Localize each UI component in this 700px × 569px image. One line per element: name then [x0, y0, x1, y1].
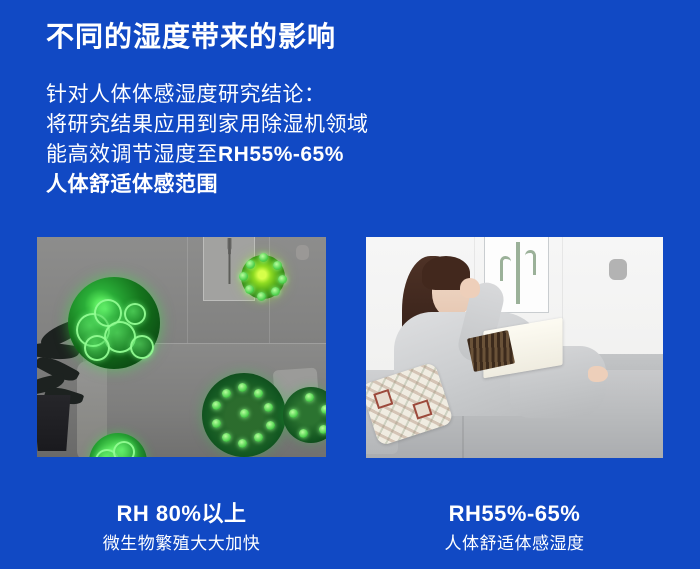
body-copy: 针对人体体感湿度研究结论： 将研究结果应用到家用除湿机领域 能高效调节湿度至RH…	[46, 80, 466, 200]
caption-title: RH55%-65%	[366, 500, 663, 528]
panel-image-comfort-humidity	[366, 237, 663, 458]
body-copy-line-2: 将研究结果应用到家用除湿机领域	[46, 110, 466, 140]
body-copy-line-1: 针对人体体感湿度研究结论：	[46, 80, 466, 110]
body-copy-line-3-prefix: 能高效调节湿度至	[46, 143, 218, 166]
wall-fixture-icon	[296, 245, 309, 260]
caption-title: RH 80%以上	[37, 500, 326, 528]
hand	[460, 278, 480, 298]
body-copy-line-4: 人体舒适体感范围	[46, 170, 466, 200]
body-copy-line-3: 能高效调节湿度至RH55%-65%	[46, 140, 466, 170]
page-title: 不同的湿度带来的影响	[46, 18, 336, 56]
caption-subtitle: 人体舒适体感湿度	[366, 533, 663, 555]
scene-bright-living-room	[366, 237, 663, 458]
microbe-virus-large	[202, 373, 286, 457]
microbe-cluster-large	[68, 277, 160, 369]
caption-comfort-humidity: RH55%-65% 人体舒适体感湿度	[366, 500, 663, 555]
open-book-icon	[484, 324, 562, 372]
wall-fixture-icon	[609, 259, 627, 280]
foot	[588, 366, 608, 382]
panel-image-high-humidity	[37, 237, 326, 457]
microbe-virus-small	[241, 255, 285, 299]
scene-dim-living-room	[37, 237, 326, 457]
caption-high-humidity: RH 80%以上 微生物繁殖大大加快	[37, 500, 326, 555]
caption-subtitle: 微生物繁殖大大加快	[37, 533, 326, 555]
poster-root: 不同的湿度带来的影响 针对人体体感湿度研究结论： 将研究结果应用到家用除湿机领域…	[0, 0, 700, 569]
body-copy-line-3-emphasis: RH55%-65%	[218, 143, 344, 166]
